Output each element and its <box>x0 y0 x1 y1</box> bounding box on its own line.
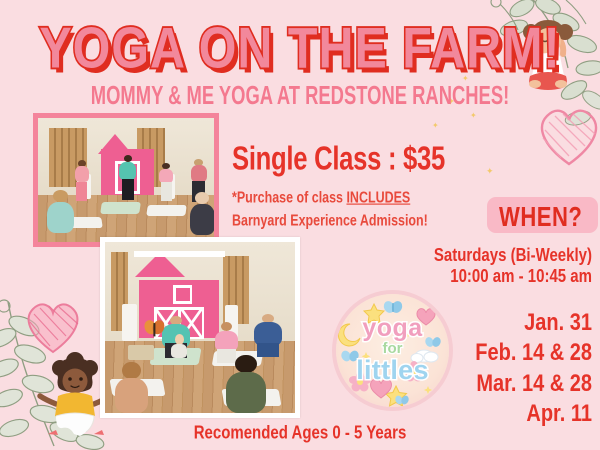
yoga-class-standing-photo <box>33 113 219 247</box>
poster-canvas: ✦ ✦ ✦ ✦ ✦ ✦ <box>0 0 600 450</box>
logo-word-for: for <box>336 341 449 356</box>
price-note-includes: INCLUDES <box>346 188 410 206</box>
page-subtitle: MOMMY & ME YOGA AT REDSTONE RANCHES! <box>24 82 576 112</box>
footer-age-note: Recomended Ages 0 - 5 Years <box>0 423 600 443</box>
left-heart-icon <box>18 292 88 356</box>
schedule-time-line: 10:00 am - 10:45 am <box>262 264 592 290</box>
headline-container: YOGA ON THE FARM! <box>0 14 600 69</box>
when-badge: WHEN? <box>487 197 598 233</box>
yoga-for-littles-logo: yoga for littles <box>336 294 449 407</box>
logo-word-yoga: yoga <box>336 316 449 341</box>
when-badge-label: WHEN? <box>499 201 582 233</box>
price-note-line2: Barnyard Experience Admission! <box>232 210 438 232</box>
price-note-prefix: *Purchase of class <box>232 188 346 206</box>
schedule-block: Saturdays (Bi-Weekly) 10:00 am - 10:45 a… <box>262 243 592 286</box>
price-block: Single Class : $35 *Purchase of class IN… <box>232 140 447 229</box>
page-title: YOGA ON THE FARM! <box>0 14 600 81</box>
price-note-line1: *Purchase of class INCLUDES <box>232 187 438 209</box>
price-headline: Single Class : $35 <box>232 140 436 178</box>
logo-word-littles: littles <box>336 357 449 384</box>
